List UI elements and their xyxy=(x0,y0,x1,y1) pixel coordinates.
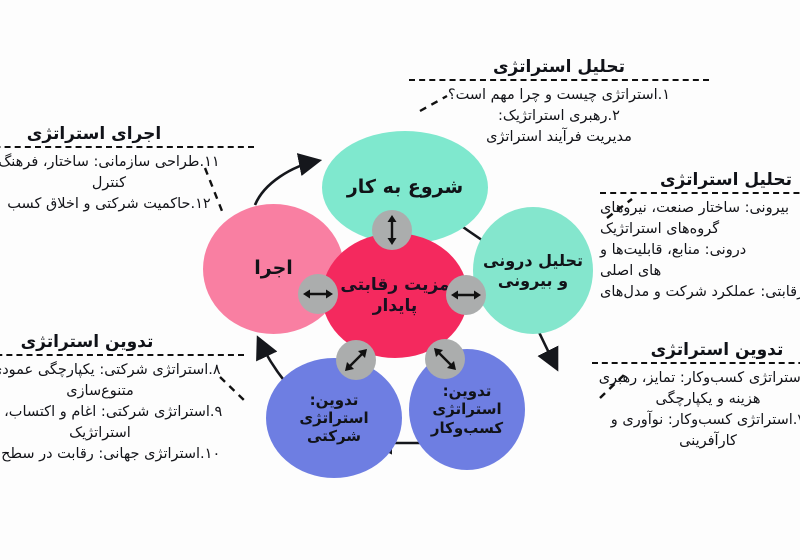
node-start-label: شروع به کار xyxy=(341,176,469,199)
callout-title: تدوین استراتژی xyxy=(0,332,244,352)
node-corporate-line1: تدوین: xyxy=(266,391,402,409)
callout-line: رقابتی: عملکرد شرکت و مدل‌های xyxy=(600,282,800,303)
hinge-core-analysis[interactable] xyxy=(446,275,486,315)
callout-line: متنوع‌سازی xyxy=(0,381,244,402)
node-business-line2: استراتژی xyxy=(425,400,509,418)
hinge-core-execution[interactable] xyxy=(298,274,338,314)
callout-line: ۷.استراتژی کسب‌وکار: نوآوری و xyxy=(592,410,800,431)
double-arrow-vertical-icon xyxy=(386,215,398,245)
callout-line: ۹.استراتژی شرکتی: اغام و اکتساب، اتحا xyxy=(0,402,244,423)
callout-line: کارآفرینی xyxy=(592,431,800,452)
node-corporate-line2: استراتژی شرکتی xyxy=(266,409,402,446)
callout-body: ۸.استراتژی شرکتی: یکپارچگی عمودی و متنوع… xyxy=(0,354,244,464)
callout-strategy-analysis-top: تحلیل استراتژی ۱.استراتژی چیست و چرا مهم… xyxy=(409,57,709,148)
node-execution-label: اجرا xyxy=(248,257,299,280)
strategy-diagram: اجرا شروع به کار تحلیل درونی و بیرونی مز… xyxy=(0,0,800,560)
hinge-core-business-strategy[interactable] xyxy=(425,339,465,379)
callout-line: گروه‌های استراتژیک xyxy=(600,219,800,240)
callout-strategy-analysis-right: تحلیل استراتژی بیرونی: ساختار صنعت، نیرو… xyxy=(600,170,800,302)
node-execution[interactable]: اجرا xyxy=(203,204,344,334)
node-corporate-strategy-formulation[interactable]: تدوین: استراتژی شرکتی xyxy=(266,358,402,478)
callout-line: کنترل xyxy=(0,173,254,194)
hinge-core-corporate-strategy[interactable] xyxy=(336,340,376,380)
node-analysis-line2: و بیرونی xyxy=(477,271,589,291)
callout-body: ۱۱.طراحی سازمانی: ساختار، فرهنگ کنترل ۱۲… xyxy=(0,146,254,215)
callout-line: هزینه و یکپارچگی xyxy=(592,389,800,410)
callout-line: درونی: منابع، قابلیت‌ها و xyxy=(600,240,800,261)
callout-line: ‌های اصلی xyxy=(600,261,800,282)
callout-line: ۲.رهبری استراتژیک: xyxy=(409,106,709,127)
callout-title: تحلیل استراتژی xyxy=(600,170,800,190)
callout-line: ۸.استراتژی شرکتی: یکپارچگی عمودی و xyxy=(0,360,244,381)
double-arrow-diagonal-icon xyxy=(432,346,458,372)
double-arrow-horizontal-icon xyxy=(451,289,481,301)
callout-title: تحلیل استراتژی xyxy=(409,57,709,77)
callout-strategy-formulation-bottom-left: تدوین استراتژی ۸.استراتژی شرکتی: یکپارچگ… xyxy=(0,332,244,464)
node-business-line3: کسب‌وکار xyxy=(425,419,509,437)
callout-line: ۱۲.حاکمیت شرکتی و اخلاق کسب xyxy=(0,194,254,215)
callout-body: ۱.استراتژی چیست و چرا مهم است؟ ۲.رهبری ا… xyxy=(409,79,709,148)
node-internal-external-analysis[interactable]: تحلیل درونی و بیرونی xyxy=(473,207,593,334)
callout-strategy-formulation-bottom-right: تدوین استراتژی ۶.استراتژی کسب‌وکار: تمای… xyxy=(592,340,800,452)
callout-strategy-execution-top-left: اجرای استراتژی ۱۱.طراحی سازمانی: ساختار،… xyxy=(0,124,254,215)
node-core-line2: پایدار xyxy=(334,296,455,317)
callout-body: ۶.استراتژی کسب‌وکار: تمایز، رهبری هزینه … xyxy=(592,362,800,452)
callout-body: بیرونی: ساختار صنعت، نیروهای گروه‌های اس… xyxy=(600,192,800,302)
callout-line: بیرونی: ساختار صنعت، نیروهای xyxy=(600,198,800,219)
callout-line: ۱.استراتژی چیست و چرا مهم است؟ xyxy=(409,85,709,106)
callout-line: استراتژیک xyxy=(0,423,244,444)
double-arrow-diagonal-icon xyxy=(343,347,369,373)
callout-line: ۱۰.استراتژی جهانی: رقابت در سطح جه xyxy=(0,444,244,465)
node-analysis-line1: تحلیل درونی xyxy=(477,251,589,271)
node-business-line1: تدوین: xyxy=(425,382,509,400)
callout-title: اجرای استراتژی xyxy=(0,124,254,144)
callout-line: ۶.استراتژی کسب‌وکار: تمایز، رهبری xyxy=(592,368,800,389)
hinge-start-core[interactable] xyxy=(372,210,412,250)
double-arrow-horizontal-icon xyxy=(303,288,333,300)
callout-line: ۱۱.طراحی سازمانی: ساختار، فرهنگ xyxy=(0,152,254,173)
node-core-line1: مزیت رقابتی xyxy=(334,275,455,296)
callout-title: تدوین استراتژی xyxy=(592,340,800,360)
